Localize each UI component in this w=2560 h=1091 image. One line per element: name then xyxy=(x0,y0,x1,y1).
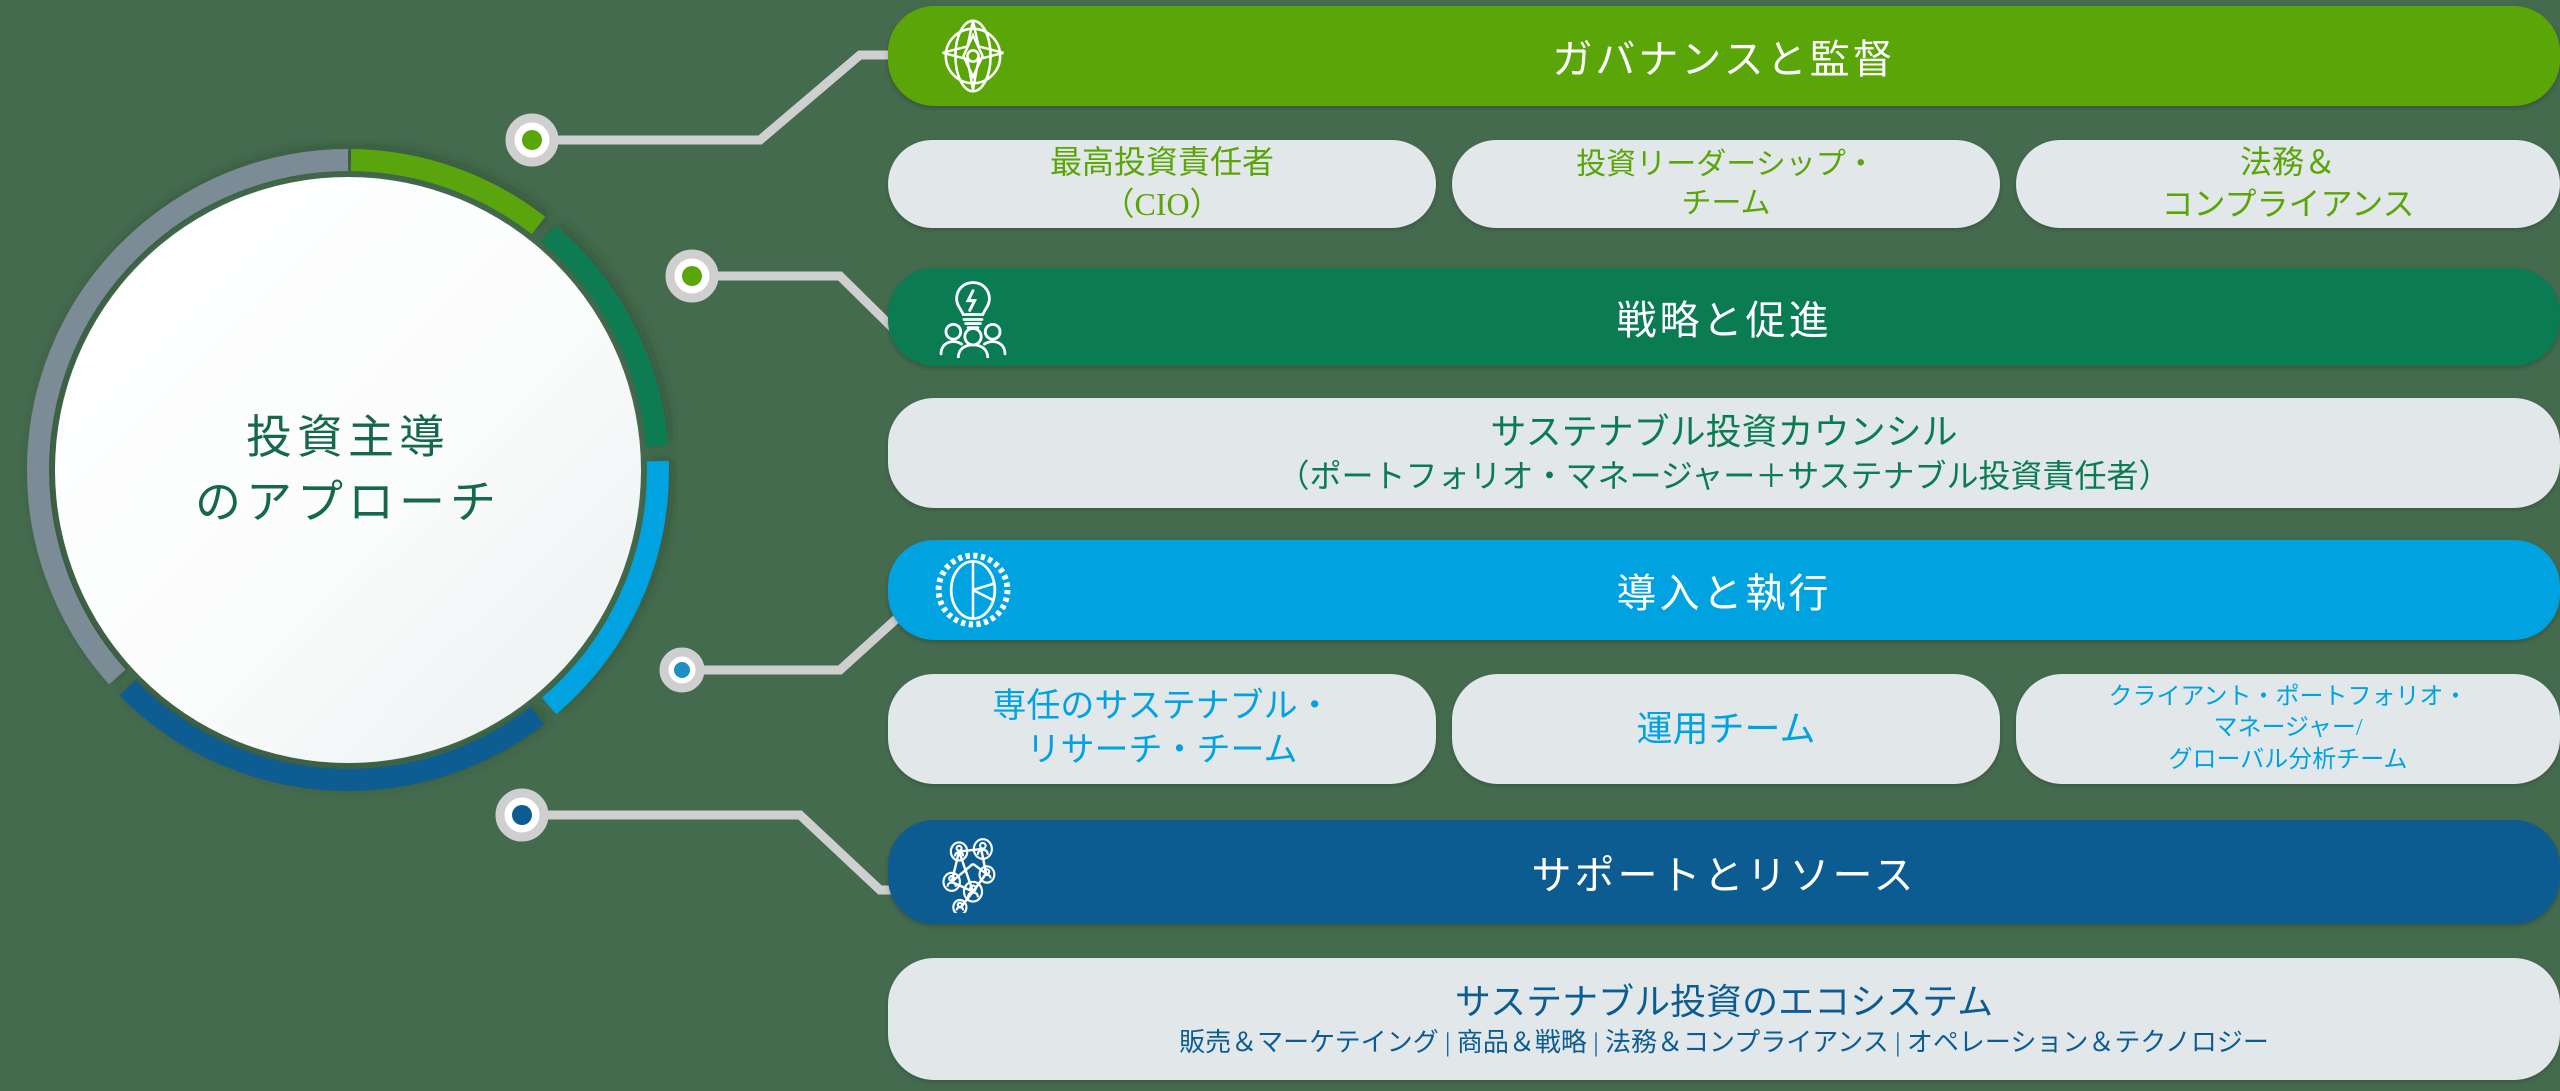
pillrow-strategy: サステナブル投資カウンシル （ポートフォリオ・マネージャー＋サステナブル投資責任… xyxy=(888,398,2560,508)
pill-line: サステナブル投資カウンシル xyxy=(1490,409,1957,456)
pill-client-portfolio-managers[interactable]: クライアント・ポートフォリオ・ マネージャー/ グローバル分析チーム xyxy=(2016,674,2560,784)
lightbulb-team-icon xyxy=(930,274,1016,360)
section-band-strategy[interactable]: 戦略と促進 xyxy=(888,268,2560,366)
connector-node-support[interactable] xyxy=(500,793,544,837)
connector-line-support xyxy=(530,815,920,890)
pill-line: グローバル分析チーム xyxy=(2168,745,2407,776)
pillrow-implementation: 専任のサステナブル・ リサーチ・チーム 運用チーム クライアント・ポートフォリオ… xyxy=(888,674,2560,784)
section-title-support: サポートとリソース xyxy=(888,843,2560,901)
pill-line: 販売＆マーケテイング | 商品＆戦略 | 法務＆コンプライアンス | オペレーシ… xyxy=(1179,1026,2269,1060)
pill-line: （CIO） xyxy=(1102,184,1221,226)
section-title-implementation: 導入と執行 xyxy=(888,561,2560,619)
pill-line: 最高投資責任者 xyxy=(1050,142,1274,184)
pill-dedicated-sustainable-research-team[interactable]: 専任のサステナブル・ リサーチ・チーム xyxy=(888,674,1436,784)
section-band-support[interactable]: サポートとリソース xyxy=(888,820,2560,924)
compass-icon xyxy=(930,13,1016,99)
pill-legal-compliance[interactable]: 法務＆ コンプライアンス xyxy=(2016,140,2560,228)
connector-node-strategy[interactable] xyxy=(670,254,714,298)
pill-cio[interactable]: 最高投資責任者 （CIO） xyxy=(888,140,1436,228)
pill-sustainable-investment-ecosystem[interactable]: サステナブル投資のエコシステム 販売＆マーケテイング | 商品＆戦略 | 法務＆… xyxy=(888,958,2560,1080)
connector-node-implementation[interactable] xyxy=(664,652,700,688)
pill-line: 法務＆ xyxy=(2240,142,2336,184)
pill-line: （ポートフォリオ・マネージャー＋サステナブル投資責任者） xyxy=(1277,456,2170,498)
sections-column: ガバナンスと監督 最高投資責任者 （CIO） 投資リーダーシップ・ チーム 法務… xyxy=(888,0,2560,1091)
pillrow-governance: 最高投資責任者 （CIO） 投資リーダーシップ・ チーム 法務＆ コンプライアン… xyxy=(888,140,2560,228)
section-band-implementation[interactable]: 導入と執行 xyxy=(888,540,2560,640)
pill-line: リサーチ・チーム xyxy=(1027,729,1298,773)
pill-line: マネージャー/ xyxy=(2214,713,2363,744)
pill-line: サステナブル投資のエコシステム xyxy=(1455,979,1993,1026)
pill-line: 投資リーダーシップ・ xyxy=(1576,145,1875,184)
pill-line: 運用チーム xyxy=(1637,706,1816,753)
pill-line: 専任のサステナブル・ xyxy=(992,685,1331,729)
section-title-strategy: 戦略と促進 xyxy=(888,288,2560,346)
section-title-governance: ガバナンスと監督 xyxy=(888,27,2560,85)
pill-portfolio-management-team[interactable]: 運用チーム xyxy=(1452,674,2000,784)
connector-line-governance xyxy=(540,55,900,140)
network-people-icon xyxy=(930,829,1016,915)
pill-line: クライアント・ポートフォリオ・ xyxy=(2108,682,2467,713)
pill-line: チーム xyxy=(1681,184,1770,223)
pillrow-support: サステナブル投資のエコシステム 販売＆マーケテイング | 商品＆戦略 | 法務＆… xyxy=(888,958,2560,1080)
gear-pie-icon xyxy=(930,547,1016,633)
pill-investment-leadership-team[interactable]: 投資リーダーシップ・ チーム xyxy=(1452,140,2000,228)
section-band-governance[interactable]: ガバナンスと監督 xyxy=(888,6,2560,106)
pill-sustainable-investment-council[interactable]: サステナブル投資カウンシル （ポートフォリオ・マネージャー＋サステナブル投資責任… xyxy=(888,398,2560,508)
pill-line: コンプライアンス xyxy=(2161,184,2414,226)
connector-node-governance[interactable] xyxy=(510,118,554,162)
connector-nodes xyxy=(500,118,714,837)
diagram-canvas: 投資主導 のアプローチ xyxy=(0,0,2560,1091)
